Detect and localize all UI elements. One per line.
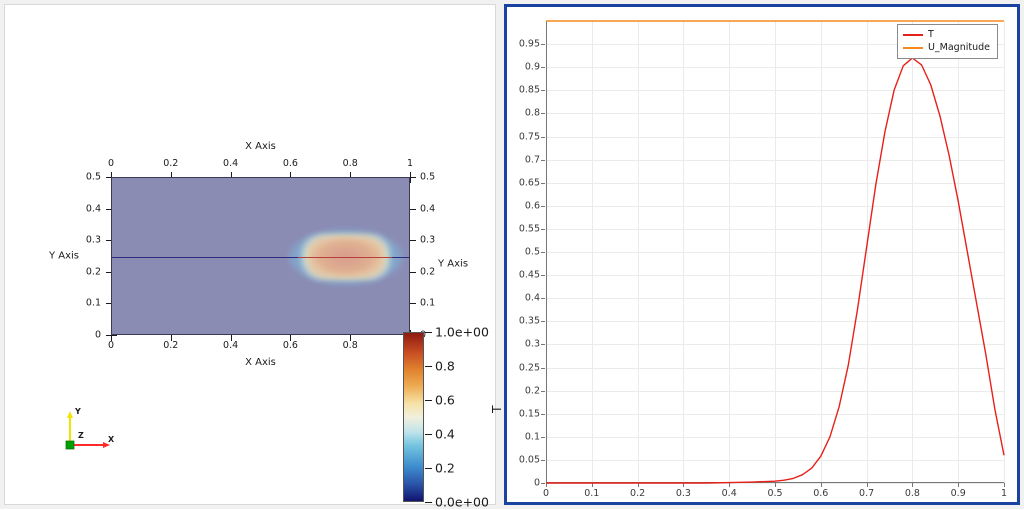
x-tick-7 (867, 483, 868, 487)
y-tick-label-4: 0.2 (525, 385, 540, 396)
y-tick-label-right-3: 0.2 (420, 266, 435, 277)
y-tick-7 (541, 321, 545, 322)
orientation-z-label: Z (78, 431, 84, 440)
x-tick-label-bottom-2: 0.4 (223, 340, 238, 351)
y-tick-label-left-4: 0.1 (86, 298, 101, 309)
y-tick-label-left-2: 0.3 (86, 235, 101, 246)
chart-legend[interactable]: TU_Magnitude (897, 24, 998, 59)
x-tick-label-1: 0.1 (584, 488, 599, 499)
y-tick-label-left-5: 0 (95, 330, 101, 341)
x-tick-8 (912, 483, 913, 487)
x-tick-label-9: 0.9 (951, 488, 966, 499)
y-tick-label-17: 0.85 (519, 85, 540, 96)
y-tick-12 (541, 206, 545, 207)
legend-entry-U_Magnitude[interactable]: U_Magnitude (903, 41, 990, 54)
y-tick-8 (541, 298, 545, 299)
color-legend-label-5: 0.0e+00 (435, 495, 489, 510)
render-y-axis-title-right: Y Axis (438, 259, 468, 270)
y-tick-label-12: 0.6 (525, 200, 540, 211)
y-tick-6 (541, 344, 545, 345)
color-legend-title: T (489, 405, 504, 413)
y-tick-label-right-4: 0.1 (420, 298, 435, 309)
y-tick-left-5 (106, 335, 117, 336)
x-tick-label-bottom-1: 0.2 (163, 340, 178, 351)
y-tick-17 (541, 90, 545, 91)
color-legend-tick-2 (425, 400, 432, 401)
x-tick-label-6: 0.6 (813, 488, 828, 499)
y-tick-1 (541, 460, 545, 461)
y-tick-4 (541, 391, 545, 392)
legend-label-T: T (928, 29, 934, 40)
legend-label-U_Magnitude: U_Magnitude (928, 42, 990, 53)
color-legend-tick-3 (425, 434, 432, 435)
domain-plot[interactable] (111, 177, 410, 335)
y-tick-label-right-1: 0.4 (420, 203, 435, 214)
y-tick-label-right-0: 0.5 (420, 172, 435, 183)
render-x-axis-title-bottom: X Axis (245, 357, 276, 368)
color-legend-label-2: 0.6 (435, 393, 455, 408)
color-legend-label-4: 0.2 (435, 461, 455, 476)
y-tick-0 (541, 483, 545, 484)
y-tick-label-2: 0.1 (525, 431, 540, 442)
y-tick-label-18: 0.9 (525, 62, 540, 73)
y-tick-14 (541, 160, 545, 161)
x-tick-label-5: 0.5 (767, 488, 782, 499)
legend-entry-T[interactable]: T (903, 28, 990, 41)
y-tick-5 (541, 368, 545, 369)
color-legend-tick-1 (425, 366, 432, 367)
y-tick-label-7: 0.35 (519, 316, 540, 327)
x-tick-label-bottom-4: 0.8 (343, 340, 358, 351)
series-line-T (546, 58, 1004, 483)
y-tick-label-5: 0.25 (519, 362, 540, 373)
x-tick-label-top-1: 0.2 (163, 158, 178, 169)
y-tick-label-14: 0.7 (525, 154, 540, 165)
x-tick-label-top-0: 0 (108, 158, 114, 169)
y-tick-label-9: 0.45 (519, 270, 540, 281)
y-tick-16 (541, 113, 545, 114)
plot-area[interactable]: 00.050.10.150.20.250.30.350.40.450.50.55… (546, 21, 1004, 483)
y-tick-label-left-3: 0.2 (86, 266, 101, 277)
orientation-y-label: Y (75, 407, 81, 416)
y-tick-11 (541, 229, 545, 230)
probe-line-hot-segment (298, 257, 392, 258)
x-tick-label-8: 0.8 (905, 488, 920, 499)
x-tick-label-4: 0.4 (722, 488, 737, 499)
render-y-axis-title-left: Y Axis (49, 251, 79, 262)
y-tick-9 (541, 275, 545, 276)
color-legend-bar[interactable] (403, 332, 424, 502)
color-legend-label-3: 0.4 (435, 427, 455, 442)
y-tick-18 (541, 67, 545, 68)
x-tick-4 (729, 483, 730, 487)
render-view[interactable]: X Axis X Axis Y Axis Y Axis 000.20.20.40… (4, 4, 496, 505)
x-tick-label-0: 0 (543, 488, 549, 499)
legend-swatch-T (903, 34, 923, 36)
y-tick-3 (541, 414, 545, 415)
y-tick-label-11: 0.55 (519, 223, 540, 234)
y-tick-label-1: 0.05 (519, 454, 540, 465)
y-tick-label-0: 0 (534, 478, 540, 489)
x-tick-label-7: 0.7 (859, 488, 874, 499)
render-x-axis-title-top: X Axis (245, 141, 276, 152)
y-tick-10 (541, 252, 545, 253)
orientation-axes-widget[interactable]: X Y Z (60, 405, 120, 455)
y-tick-15 (541, 137, 545, 138)
legend-swatch-U_Magnitude (903, 47, 923, 49)
x-tick-9 (958, 483, 959, 487)
x-tick-6 (821, 483, 822, 487)
color-legend-tick-4 (425, 468, 432, 469)
x-tick-label-3: 0.3 (676, 488, 691, 499)
x-tick-label-top-5: 1 (407, 158, 413, 169)
y-tick-label-10: 0.5 (525, 247, 540, 258)
color-legend-label-0: 1.0e+00 (435, 325, 489, 340)
color-legend-tick-0 (425, 332, 432, 333)
x-tick-label-top-2: 0.4 (223, 158, 238, 169)
chart-curves (546, 21, 1004, 483)
x-tick-label-2: 0.2 (630, 488, 645, 499)
color-legend-tick-5 (425, 502, 432, 503)
y-tick-2 (541, 437, 545, 438)
y-tick-label-3: 0.15 (519, 408, 540, 419)
temperature-field (111, 177, 410, 335)
x-tick-label-top-3: 0.6 (283, 158, 298, 169)
x-tick-5 (775, 483, 776, 487)
y-tick-label-left-1: 0.4 (86, 203, 101, 214)
orientation-x-label: X (108, 435, 114, 444)
x-tick-label-bottom-3: 0.6 (283, 340, 298, 351)
y-tick-label-6: 0.3 (525, 339, 540, 350)
y-tick-label-left-0: 0.5 (86, 172, 101, 183)
y-tick-label-13: 0.65 (519, 177, 540, 188)
gridline-v-10 (1004, 21, 1005, 483)
y-tick-label-19: 0.95 (519, 39, 540, 50)
y-tick-13 (541, 183, 545, 184)
x-tick-label-bottom-0: 0 (108, 340, 114, 351)
y-tick-19 (541, 44, 545, 45)
line-chart-view[interactable]: 00.050.10.150.20.250.30.350.40.450.50.55… (504, 4, 1020, 505)
x-tick-10 (1004, 483, 1005, 487)
x-tick-label-10: 1 (1001, 488, 1007, 499)
y-tick-label-16: 0.8 (525, 108, 540, 119)
x-tick-label-top-4: 0.8 (343, 158, 358, 169)
paraview-window: X Axis X Axis Y Axis Y Axis 000.20.20.40… (0, 0, 1024, 509)
y-tick-label-15: 0.75 (519, 131, 540, 142)
y-tick-label-right-2: 0.3 (420, 235, 435, 246)
y-tick-label-8: 0.4 (525, 293, 540, 304)
color-legend-label-1: 0.8 (435, 359, 455, 374)
